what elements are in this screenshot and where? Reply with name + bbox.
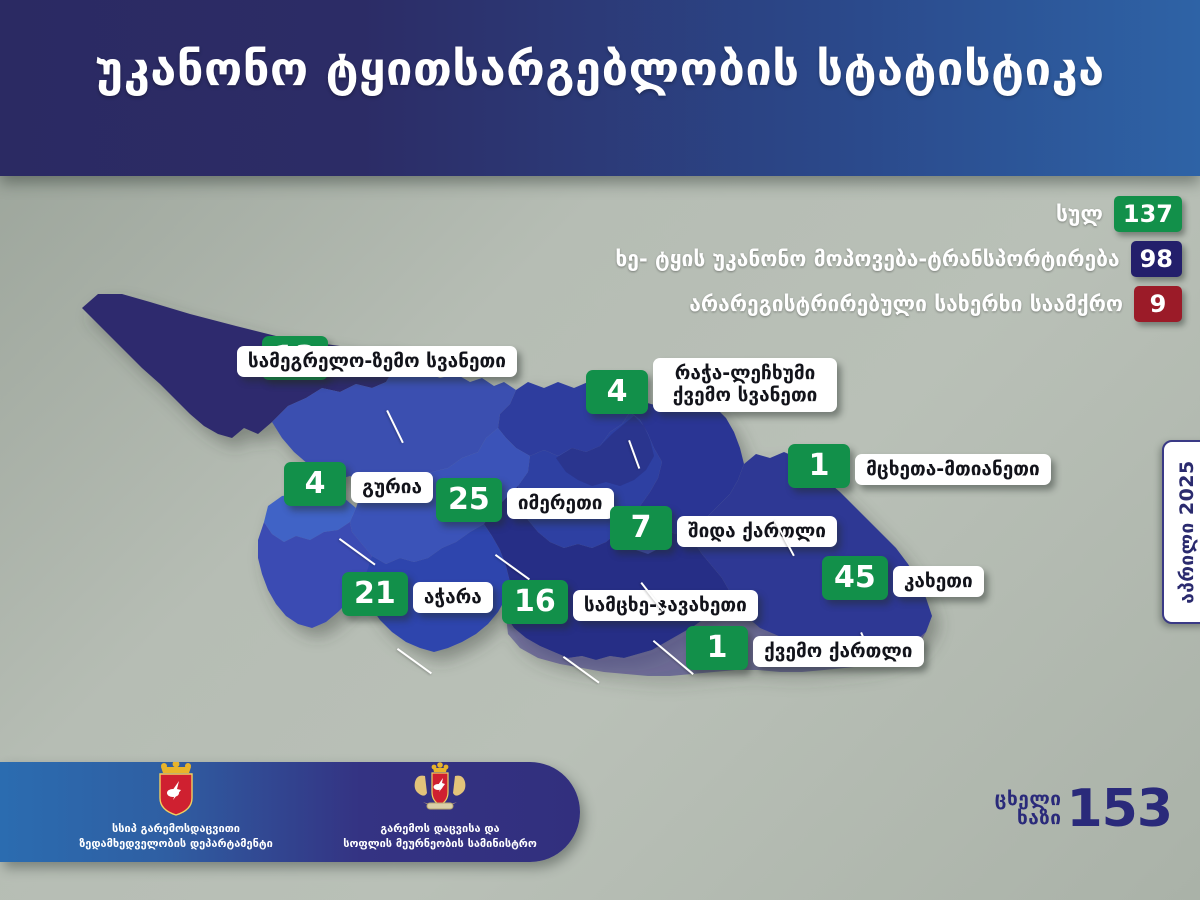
callout-kvemo-kartli: 1 ქვემო ქართლი bbox=[636, 626, 924, 670]
callout-label: რაჭა-ლეჩხუმი ქვემო სვანეთი bbox=[653, 358, 837, 412]
legend: სულ 137 ხე- ტყის უკანონო მოპოვება-ტრანსპ… bbox=[615, 196, 1182, 331]
callout-label: სამეგრელო-ზემო სვანეთი bbox=[237, 346, 517, 377]
callout-kakheti: 45 კახეთი bbox=[808, 556, 984, 600]
callout-value: 1 bbox=[686, 626, 748, 670]
legend-label: სულ bbox=[1056, 202, 1103, 226]
callout-label: მცხეთა-მთიანეთი bbox=[855, 454, 1051, 485]
legend-label: ხე- ტყის უკანონო მოპოვება-ტრანსპორტირება bbox=[615, 247, 1119, 271]
legend-value-badge: 137 bbox=[1114, 196, 1182, 232]
callout-value: 21 bbox=[342, 572, 408, 616]
callout-samtskhe-javakheti: 16 სამცხე-ჯავახეთი bbox=[468, 580, 758, 624]
georgia-greater-coat-of-arms-icon bbox=[411, 762, 469, 820]
callout-guria: 4 გურია bbox=[278, 462, 433, 506]
date-tab: აპრილი 2025 bbox=[1162, 440, 1200, 624]
callout-racha-lechkhumi-kvemo-svaneti: 4 რაჭა-ლეჩხუმი ქვემო სვანეთი bbox=[536, 356, 837, 414]
date-label: აპრილი 2025 bbox=[1176, 460, 1198, 604]
callout-label: შიდა ქართლი bbox=[677, 516, 837, 547]
legend-item-illegal-logging: ხე- ტყის უკანონო მოპოვება-ტრანსპორტირება… bbox=[615, 241, 1182, 277]
org-caption: გარემოს დაცვისა და სოფლის მეურნეობის სამ… bbox=[343, 822, 537, 852]
org-ministry-env-agriculture: გარემოს დაცვისა და სოფლის მეურნეობის სამ… bbox=[300, 762, 580, 862]
callout-value: 4 bbox=[284, 462, 346, 506]
georgia-small-coat-of-arms-icon bbox=[155, 762, 197, 820]
org-env-supervision-department: სსიპ გარემოსდაცვითი ზედამხედველობის დეპა… bbox=[36, 762, 316, 862]
callout-label: სამცხე-ჯავახეთი bbox=[573, 590, 758, 621]
hotline-label: ცხელი ხაზი bbox=[995, 790, 1062, 828]
callout-value: 45 bbox=[822, 556, 888, 600]
callout-shida-kartli: 7 შიდა ქართლი bbox=[588, 506, 837, 550]
callout-value: 7 bbox=[610, 506, 672, 550]
legend-value-badge: 98 bbox=[1131, 241, 1182, 277]
callout-samegrelo-zemo-svaneti: 13 სამეგრელო-ზემო სვანეთი bbox=[262, 336, 517, 380]
legend-label: არარეგისტრირებული სახერხი საამქრო bbox=[689, 292, 1123, 316]
org-caption: სსიპ გარემოსდაცვითი ზედამხედველობის დეპა… bbox=[79, 822, 273, 852]
page-title: უკანონო ტყითსარგებლობის სტატისტიკა bbox=[0, 42, 1200, 97]
callout-mtskheta-mtianeti: 1 მცხეთა-მთიანეთი bbox=[714, 444, 1051, 488]
hotline: ცხელი ხაზი 153 bbox=[995, 786, 1172, 833]
callout-value: 4 bbox=[586, 370, 648, 414]
callout-label: კახეთი bbox=[893, 566, 984, 597]
hotline-number: 153 bbox=[1066, 786, 1172, 833]
footer-bar: სსიპ გარემოსდაცვითი ზედამხედველობის დეპა… bbox=[0, 762, 580, 862]
callout-imereti: 25 იმერეთი bbox=[428, 478, 614, 522]
legend-item-unregistered-sawmill: არარეგისტრირებული სახერხი საამქრო 9 bbox=[615, 286, 1182, 322]
page-header: უკანონო ტყითსარგებლობის სტატისტიკა bbox=[0, 0, 1200, 176]
legend-value-badge: 9 bbox=[1134, 286, 1182, 322]
callout-label: ქვემო ქართლი bbox=[753, 636, 923, 667]
callout-value: 25 bbox=[436, 478, 502, 522]
legend-item-total: სულ 137 bbox=[615, 196, 1182, 232]
callout-value: 16 bbox=[502, 580, 568, 624]
callout-label: გურია bbox=[351, 472, 433, 503]
callout-value: 1 bbox=[788, 444, 850, 488]
